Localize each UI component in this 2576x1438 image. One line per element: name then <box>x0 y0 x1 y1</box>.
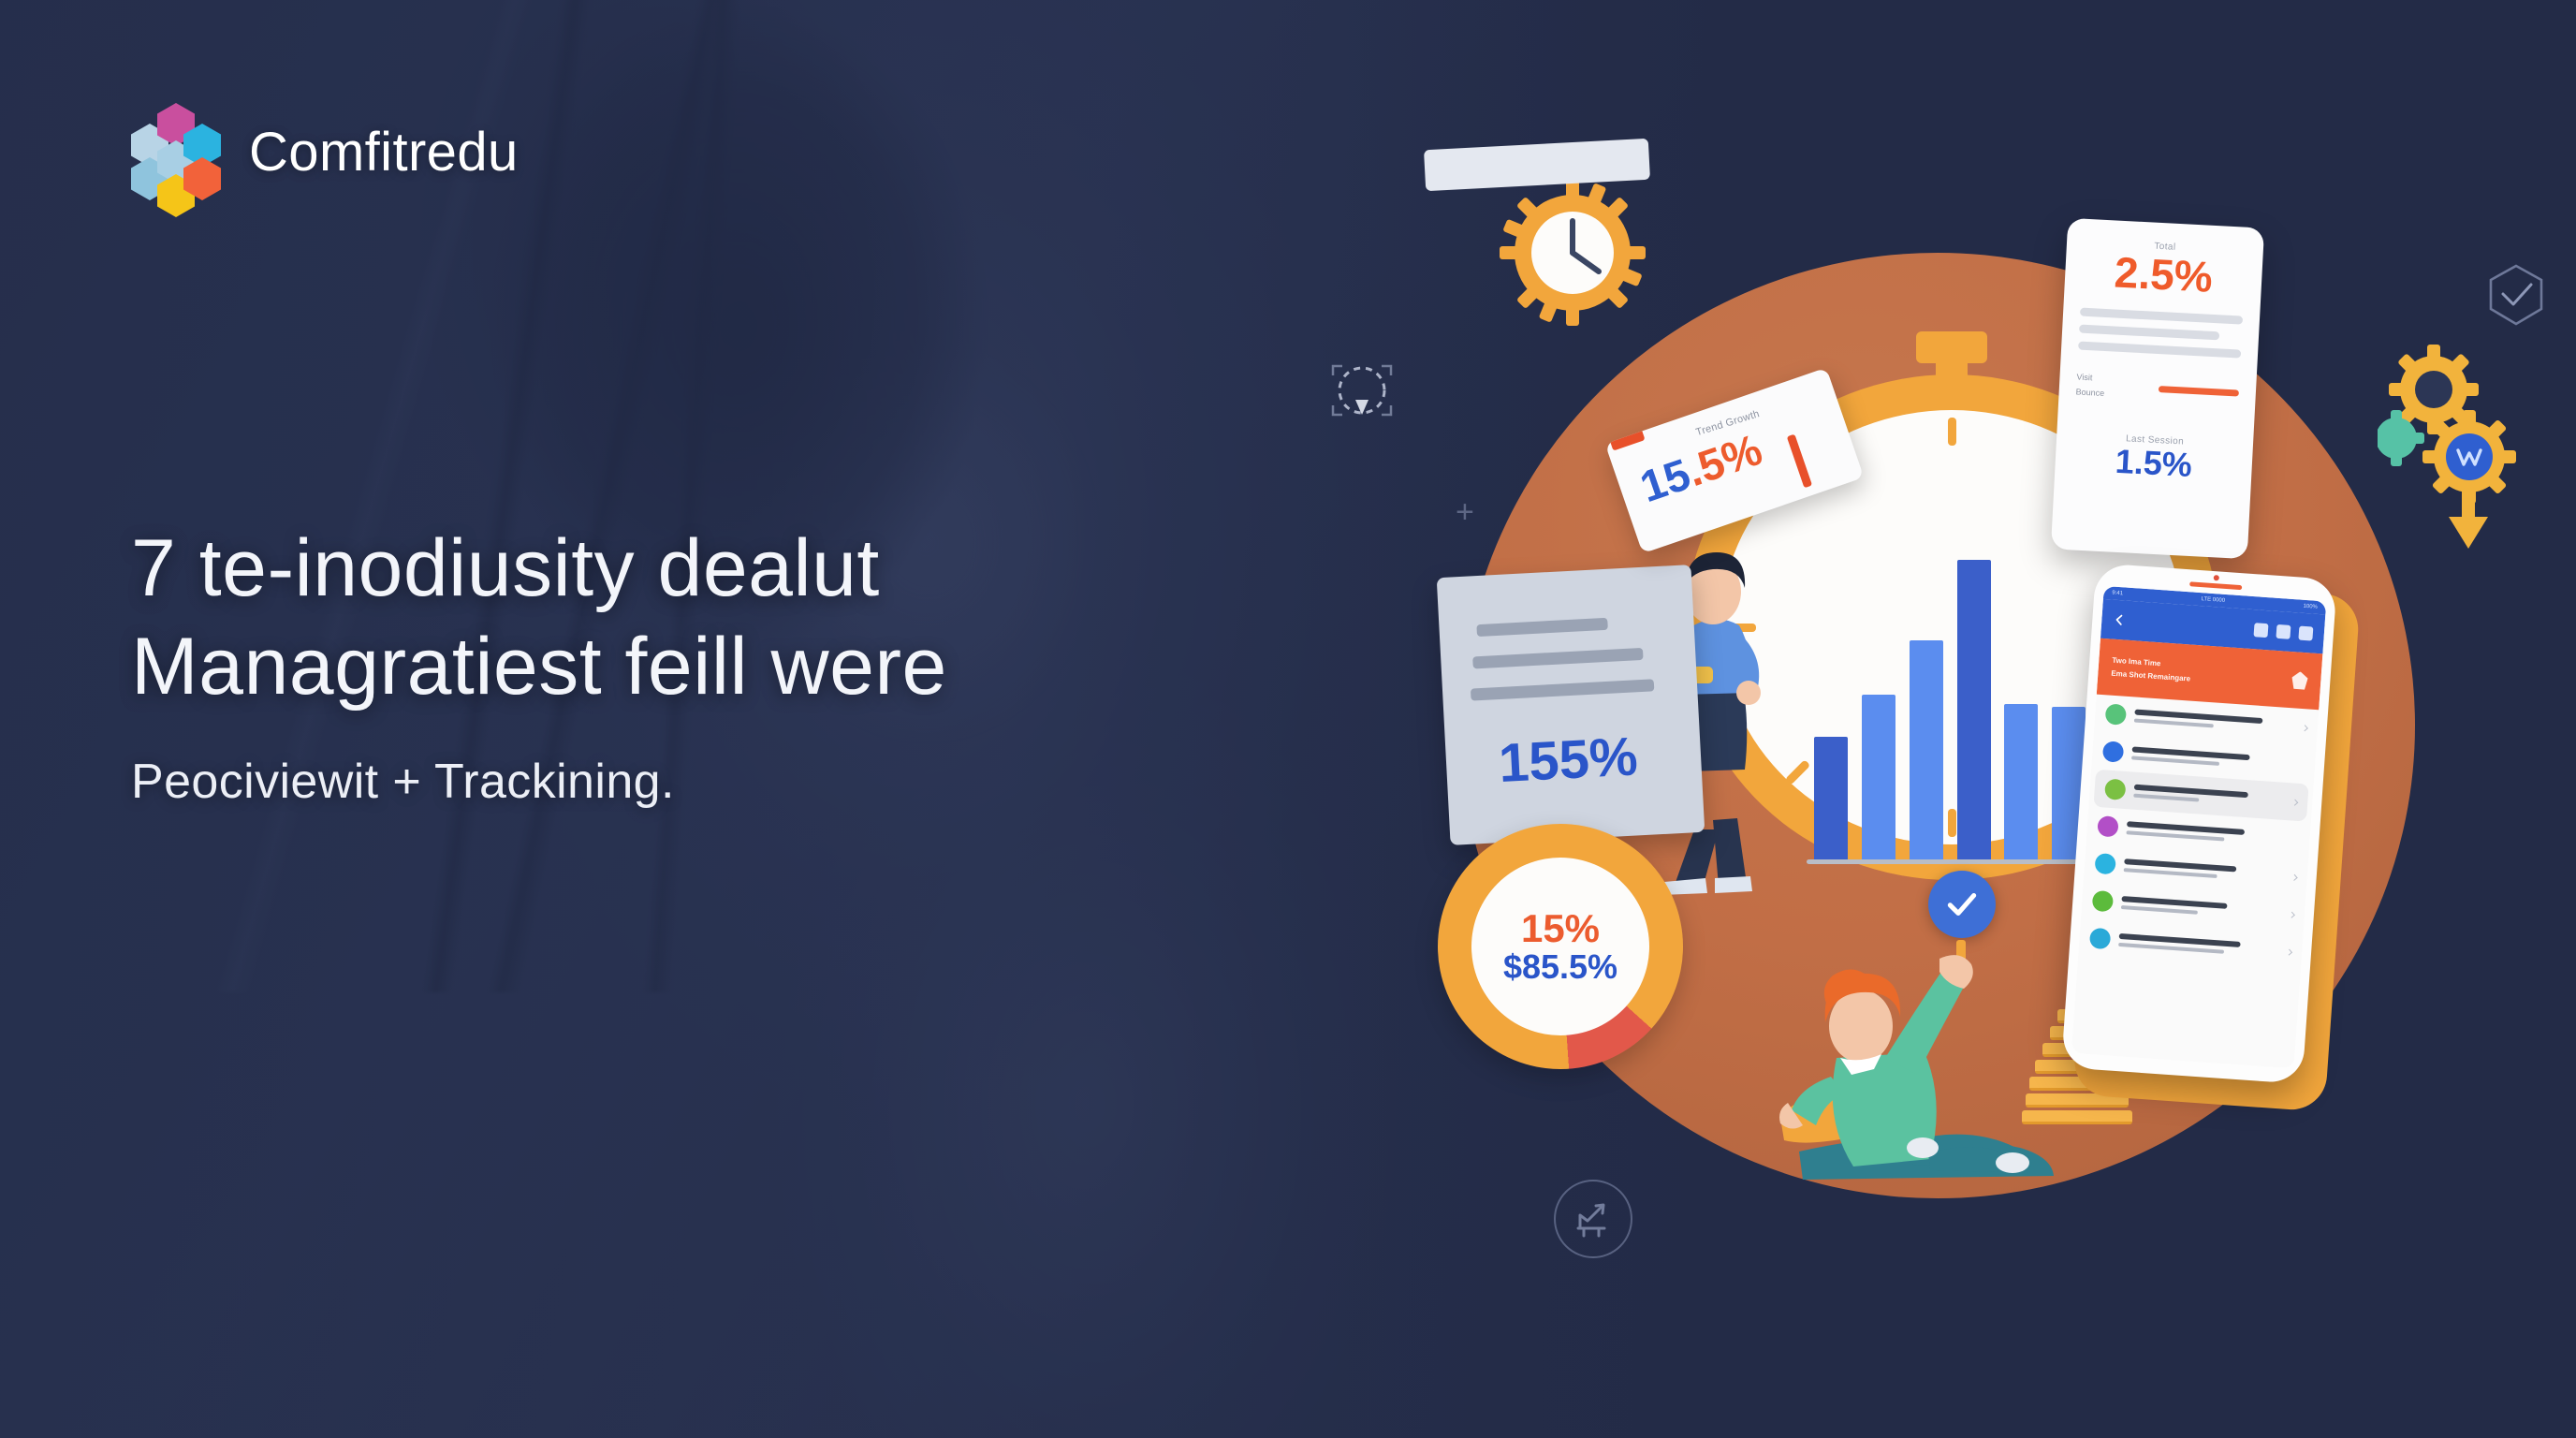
phone-list <box>2078 695 2319 972</box>
bar-chart-bar <box>1862 695 1895 859</box>
hero-illustration: + <box>1404 169 2576 1283</box>
phone-list-item-avatar-icon <box>2092 890 2114 912</box>
rising-chart-circle-icon <box>1554 1180 1632 1258</box>
stat-card-legend-1: Visit <box>2076 371 2105 387</box>
clock-gear-icon <box>1498 178 1647 328</box>
stat-card-legend-bar <box>2159 386 2239 396</box>
bar-chart-bar <box>2004 704 2038 859</box>
document-card: 155% <box>1437 565 1705 845</box>
phone-list-item-subtitle <box>2121 905 2198 915</box>
document-value: 155% <box>1497 725 1639 795</box>
tilted-card-bar <box>1787 434 1812 489</box>
phone-list-item-avatar-icon <box>2105 703 2127 725</box>
phone-status-time: 9:41 <box>2112 591 2123 597</box>
phone-status-battery: 100% <box>2303 604 2318 610</box>
headline-line-1: 7 te-inodiusity dealut <box>131 520 1376 618</box>
phone-list-item-avatar-icon <box>2094 853 2115 874</box>
phone-list-item-subtitle <box>2133 794 2199 802</box>
donut-value-bottom: $85.5% <box>1503 950 1617 984</box>
tilted-card-value-orange: .5% <box>1680 424 1768 495</box>
phone-list-item-avatar-icon <box>2104 779 2126 800</box>
phone-body: 9:41 LTE 0000 100% Two Im <box>2061 563 2337 1084</box>
phone-list-item-avatar-icon <box>2097 815 2118 837</box>
phone-speaker <box>2189 581 2242 590</box>
donut-chart: 15% $85.5% <box>1438 824 1683 1069</box>
brand-name: Comfitredu <box>249 121 519 183</box>
headline-line-2: Managratiest feill were <box>131 618 1376 716</box>
crop-target-icon <box>1320 351 1404 435</box>
stat-card-value-bottom: 1.5% <box>2071 441 2236 485</box>
bar-chart-bar <box>1910 640 1943 859</box>
chevron-right-icon <box>2302 725 2308 731</box>
stat-card-value-top: 2.5% <box>2081 248 2246 301</box>
stat-card-legend-2: Bounce <box>2075 385 2104 401</box>
stat-card: Total 2.5% Visit Bounce Last Session 1.5… <box>2051 218 2264 560</box>
phone-mockup: 9:41 LTE 0000 100% Two Im <box>2060 563 2349 1095</box>
phone-list-item-avatar-icon <box>2102 741 2124 762</box>
menu-icon[interactable] <box>2298 625 2313 640</box>
bar-chart-bar <box>1957 560 1991 859</box>
phone-screen: 9:41 LTE 0000 100% Two Im <box>2071 586 2326 1068</box>
chevron-right-icon <box>2291 873 2298 880</box>
donut-chart-center: 15% $85.5% <box>1471 858 1649 1035</box>
chevron-right-icon <box>2291 799 2298 805</box>
gears-cluster-icon <box>2378 337 2555 562</box>
phone-camera <box>2214 575 2219 580</box>
hexagon-cluster-logo-icon <box>131 103 221 200</box>
back-arrow-icon[interactable] <box>2113 613 2127 627</box>
phone-status-center: LTE 0000 <box>2201 596 2225 604</box>
megaphone-icon[interactable] <box>2276 624 2291 638</box>
calendar-icon[interactable] <box>2254 623 2269 638</box>
phone-list-item-avatar-icon <box>2089 928 2111 949</box>
chevron-right-icon <box>2286 948 2292 955</box>
bar-chart-bar <box>1814 737 1848 859</box>
phone-list-item-subtitle <box>2134 718 2214 727</box>
hero-copy: 7 te-inodiusity dealut Managratiest feil… <box>131 520 1376 810</box>
donut-value-top: 15% <box>1521 909 1600 948</box>
stopwatch-crown <box>1916 331 1987 363</box>
check-hexagon-icon <box>2482 262 2550 330</box>
hero-subtitle: Peociviewit + Trackining. <box>131 754 1376 810</box>
chevron-right-icon <box>2289 911 2295 917</box>
plus-icon: + <box>1456 494 1474 531</box>
badge-shield-icon <box>2291 671 2308 690</box>
brand-logo[interactable]: Comfitredu <box>131 103 519 200</box>
